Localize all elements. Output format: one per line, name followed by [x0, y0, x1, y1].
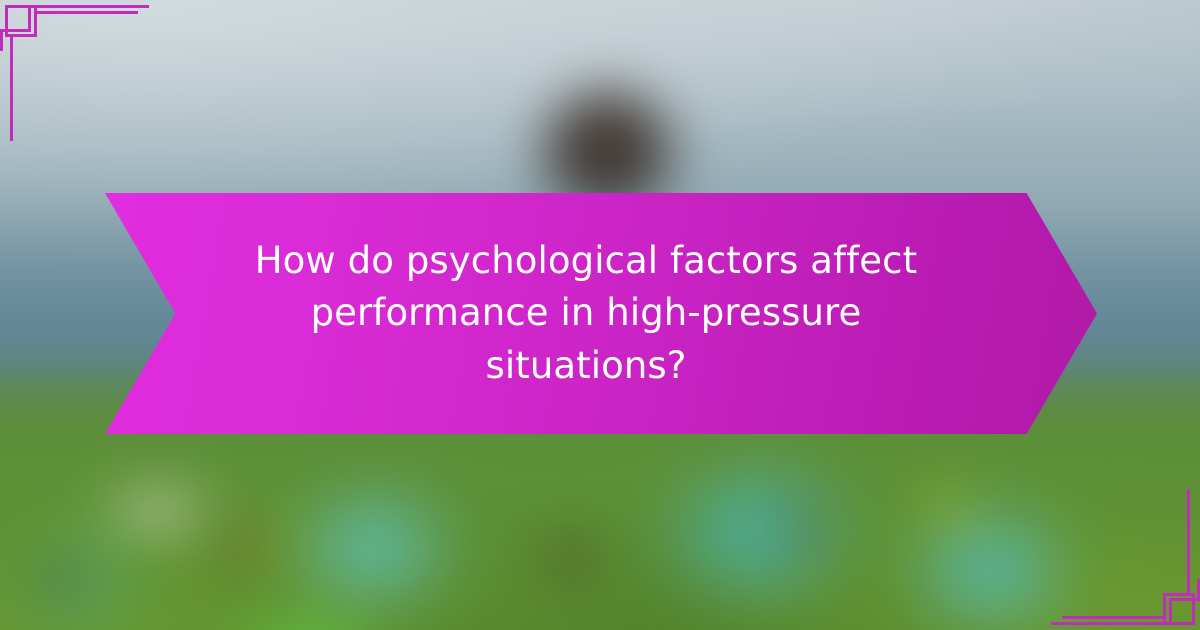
question-text: How do psychological factors affect perf…	[226, 235, 976, 393]
poster-canvas: How do psychological factors affect perf…	[0, 0, 1200, 630]
ornament-line-horizontal	[1051, 622, 1169, 625]
jersey-emblem	[908, 482, 986, 531]
ornament-line-vertical	[28, 5, 31, 32]
ornament-line-horizontal	[36, 11, 138, 14]
ornament-square-icon	[5, 5, 37, 37]
crowd-head	[768, 498, 834, 559]
ornament-line-horizontal	[31, 5, 149, 8]
ornament-line-vertical	[0, 29, 3, 51]
crowd-head	[530, 522, 608, 590]
ornament-line-vertical	[1169, 598, 1172, 625]
question-banner: How do psychological factors affect perf…	[105, 193, 1097, 434]
jersey-emblem	[236, 522, 295, 562]
corner-ornament-top-left	[0, 0, 170, 150]
ornament-line-horizontal	[1169, 598, 1200, 601]
ornament-line-vertical	[1187, 489, 1190, 596]
ornament-line-vertical	[10, 34, 13, 141]
corner-ornament-bottom-right	[1030, 480, 1200, 630]
ornament-line-horizontal	[1062, 616, 1164, 619]
ornament-line-horizontal	[0, 29, 31, 32]
crowd-head	[26, 554, 94, 615]
